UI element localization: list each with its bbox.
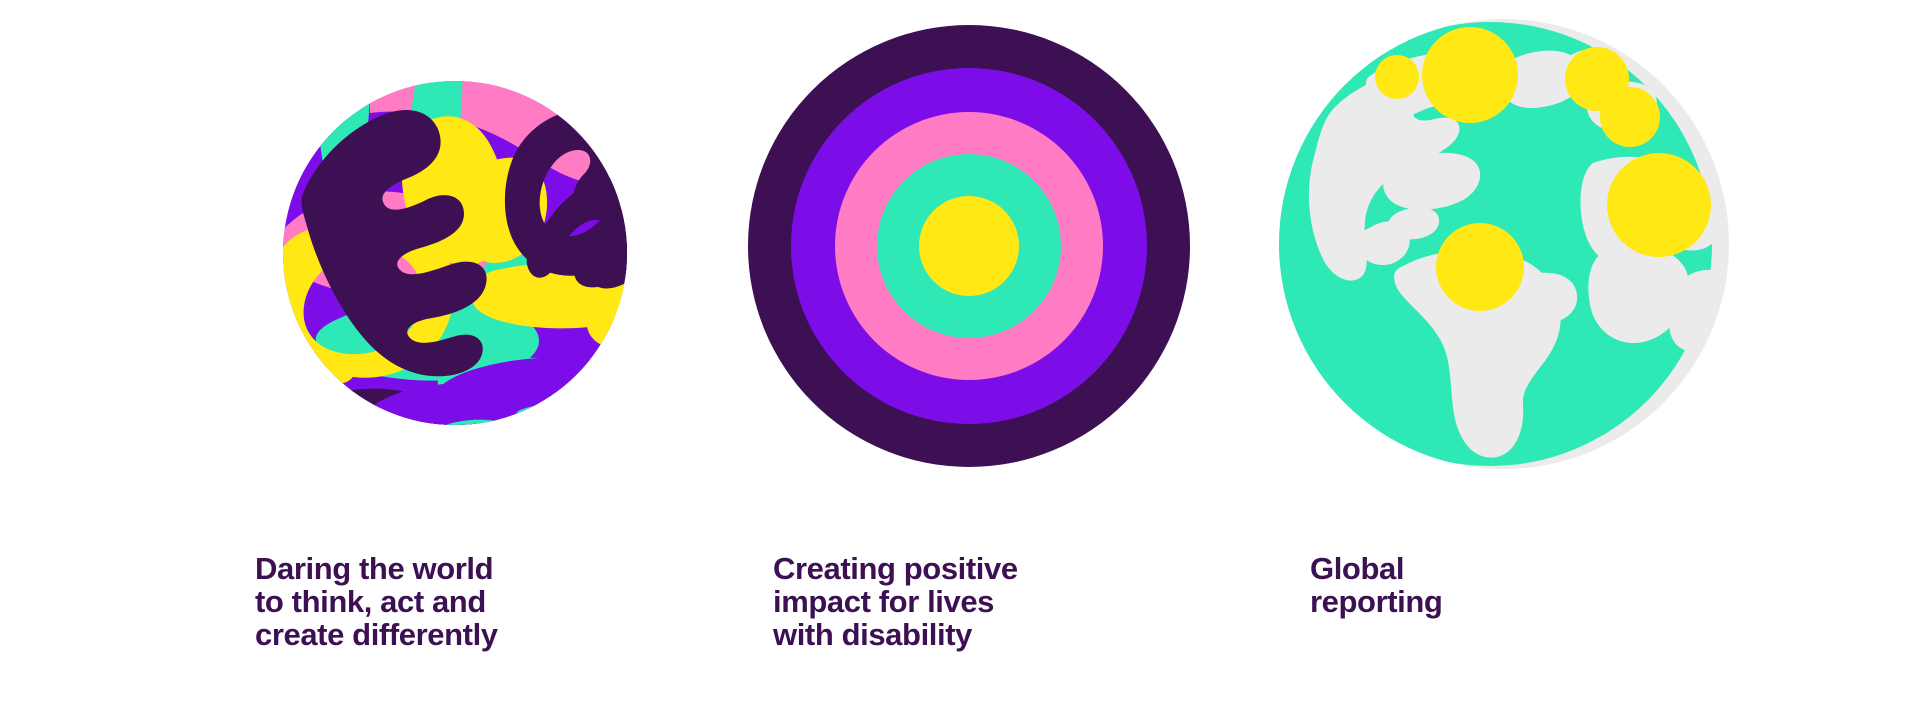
globe-marker-europe bbox=[1600, 87, 1660, 147]
caption-line: with disability bbox=[773, 618, 1213, 651]
feature-card-daring: Daring the world to think, act and creat… bbox=[200, 0, 720, 724]
caption-line: Daring the world bbox=[255, 552, 695, 585]
globe-marker-africa bbox=[1607, 153, 1711, 257]
caption-line: reporting bbox=[1310, 585, 1750, 618]
feature-card-global: Global reporting bbox=[1250, 0, 1770, 724]
caption-line: Global bbox=[1310, 552, 1750, 585]
target-bullseye-illustration bbox=[748, 25, 1190, 467]
card-caption: Creating positive impact for lives with … bbox=[773, 552, 1213, 651]
page-root: Daring the world to think, act and creat… bbox=[0, 0, 1920, 724]
globe-marker-south-america bbox=[1436, 223, 1524, 311]
target-center-dot bbox=[919, 196, 1019, 296]
paint-splash-illustration bbox=[220, 18, 690, 488]
caption-line: impact for lives bbox=[773, 585, 1213, 618]
caption-line: Creating positive bbox=[773, 552, 1213, 585]
globe-marker-large-north bbox=[1422, 27, 1518, 123]
caption-line: to think, act and bbox=[255, 585, 695, 618]
card-caption: Global reporting bbox=[1310, 552, 1750, 618]
globe-marker-small-northwest bbox=[1375, 55, 1419, 99]
caption-line: create differently bbox=[255, 618, 695, 651]
card-caption: Daring the world to think, act and creat… bbox=[255, 552, 695, 651]
feature-card-impact: Creating positive impact for lives with … bbox=[725, 0, 1245, 724]
globe-illustration bbox=[1275, 15, 1733, 473]
